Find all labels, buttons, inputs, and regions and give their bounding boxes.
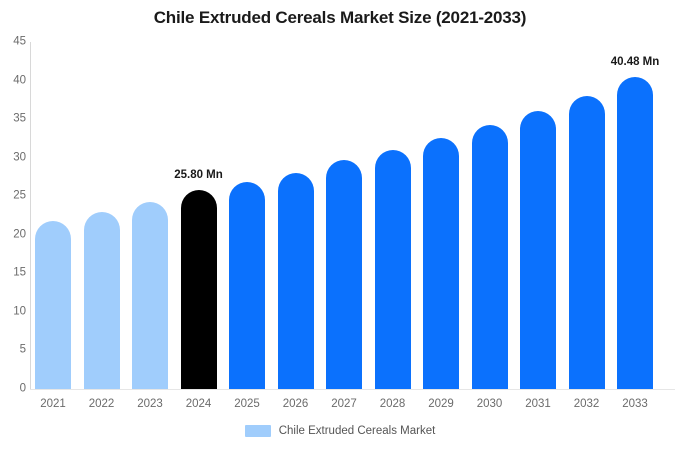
- bar-chart: Chile Extruded Cereals Market Size (2021…: [0, 0, 680, 450]
- y-axis-tick-label: 5: [2, 345, 26, 357]
- chart-title: Chile Extruded Cereals Market Size (2021…: [0, 8, 680, 28]
- y-axis-tick-label: 20: [2, 229, 26, 241]
- y-axis-tick-label: 25: [2, 190, 26, 202]
- bar-group[interactable]: [326, 42, 362, 389]
- bar-group[interactable]: [423, 42, 459, 389]
- bar-value-label-2024: 25.80 Mn: [174, 169, 223, 181]
- y-axis-tick-label: 15: [2, 268, 26, 280]
- y-axis-tick-label: 10: [2, 306, 26, 318]
- bar-group[interactable]: [520, 42, 556, 389]
- bar-group[interactable]: 40.48 Mn: [617, 42, 653, 389]
- bar-2024[interactable]: [181, 190, 217, 389]
- y-axis-tick-label: 0: [2, 383, 26, 395]
- bar-group[interactable]: [84, 42, 120, 389]
- bar-2021[interactable]: [35, 221, 71, 389]
- bar-group[interactable]: [229, 42, 265, 389]
- bar-group[interactable]: [35, 42, 71, 389]
- bar-value-label-2033: 40.48 Mn: [611, 56, 660, 68]
- bar-group[interactable]: [472, 42, 508, 389]
- bar-2025[interactable]: [229, 182, 265, 389]
- bar-2023[interactable]: [132, 202, 168, 389]
- bar-2029[interactable]: [423, 138, 459, 389]
- legend-label-chile-extruded-cereals-market: Chile Extruded Cereals Market: [279, 425, 436, 437]
- x-axis-tick-label-2033: 2033: [605, 398, 665, 410]
- bar-group[interactable]: [278, 42, 314, 389]
- bar-group[interactable]: 25.80 Mn: [181, 42, 217, 389]
- bar-2033[interactable]: [617, 77, 653, 389]
- y-axis-tick-labels: 051015202530354045: [0, 0, 26, 450]
- bar-group[interactable]: [569, 42, 605, 389]
- x-axis-line: [30, 389, 675, 390]
- bar-2031[interactable]: [520, 111, 556, 389]
- bar-2030[interactable]: [472, 125, 508, 389]
- y-axis-tick-label: 35: [2, 113, 26, 125]
- bar-2022[interactable]: [84, 212, 120, 389]
- plot-area: 25.80 Mn40.48 Mn: [30, 42, 675, 389]
- y-axis-tick-label: 40: [2, 75, 26, 87]
- bar-group[interactable]: [132, 42, 168, 389]
- bar-group[interactable]: [375, 42, 411, 389]
- bar-2027[interactable]: [326, 160, 362, 389]
- y-axis-tick-label: 30: [2, 152, 26, 164]
- chart-legend: Chile Extruded Cereals Market: [0, 425, 680, 437]
- legend-swatch-chile-extruded-cereals-market: [245, 425, 271, 437]
- bar-2026[interactable]: [278, 173, 314, 389]
- bar-2032[interactable]: [569, 96, 605, 389]
- bar-2028[interactable]: [375, 150, 411, 389]
- y-axis-tick-label: 45: [2, 36, 26, 48]
